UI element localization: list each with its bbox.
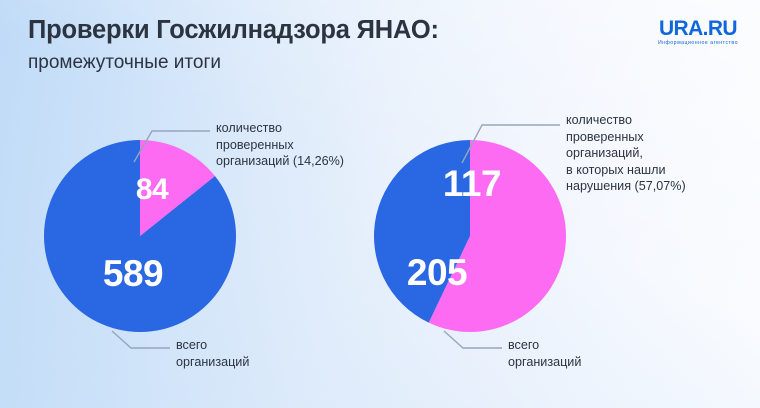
right-pie-total-value: 205 [407,252,467,293]
infographic-canvas: Проверки Госжилнадзора ЯНАО: промежуточн… [0,0,760,408]
annotation-total-right: всего организаций [508,337,581,370]
annotation-checked-right: количество проверенных организаций, в ко… [566,112,686,195]
right-pie-violations-value: 117 [443,163,501,204]
right-pie-chart: 117 205 [0,0,760,408]
right-total-leader-line [444,331,502,348]
